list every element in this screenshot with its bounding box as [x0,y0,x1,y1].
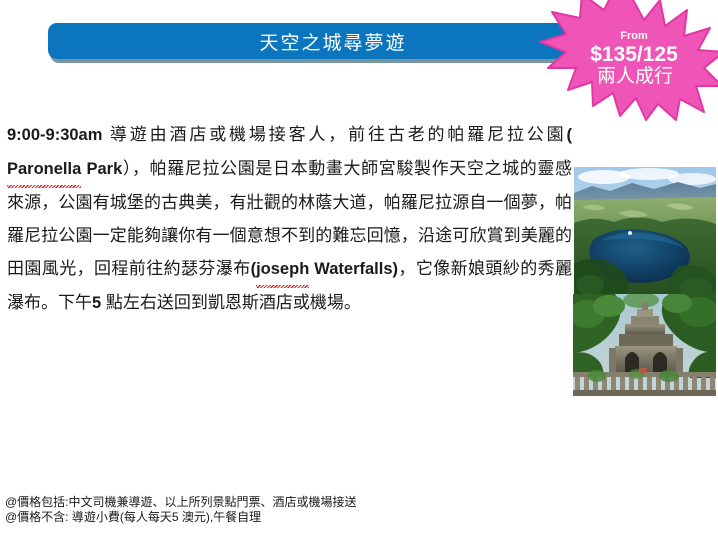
footer-excludes-line: @價格不含: 導遊小費(每人每天5 澳元),午餐自理 [5,510,357,525]
price-starburst-badge: From $135/125 兩人成行 [538,0,718,120]
paronella-castle-photo [573,294,716,396]
itinerary-time-range: 9:00-9:30am [7,126,102,144]
price-inclusions-footer: @價格包括:中文司機兼導遊、以上所列景點門票、酒店或機場接送 @價格不含: 導遊… [5,495,357,525]
starburst-shape-icon [538,0,718,120]
banner-bar: 天空之城尋夢遊 [48,23,618,59]
crater-lake-aerial-photo [574,167,716,299]
header-banner: 天空之城尋夢遊 [48,23,618,59]
itinerary-segment-4: 點左右送回到凱恩斯酒店或機場。 [101,293,361,312]
falls-name-misspelled: joseph [256,253,309,286]
park-name-rest: Park [81,160,122,178]
itinerary-segment-1: 導遊由酒店或機場接客人，前往古老的帕羅尼拉公園 [102,125,566,144]
page-title: 天空之城尋夢遊 [259,28,406,55]
park-name-misspelled: Paronella [7,153,81,186]
itinerary-description: 9:00-9:30am 導遊由酒店或機場接客人，前往古老的帕羅尼拉公園(Paro… [7,118,572,320]
park-name-close-paren: ） [122,159,132,178]
falls-name-rest: Waterfalls) [309,260,398,278]
itinerary-end-hour: 5 [92,294,101,312]
park-name-open-paren: ( [567,126,573,144]
footer-includes-line: @價格包括:中文司機兼導遊、以上所列景點門票、酒店或機場接送 [5,495,357,510]
